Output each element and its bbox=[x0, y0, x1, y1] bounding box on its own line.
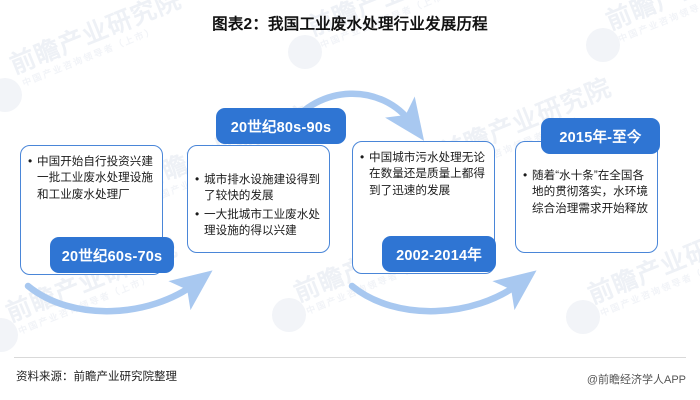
page-title: 图表2：我国工业废水处理行业发展历程 bbox=[0, 12, 700, 34]
stage-card-3-bullets: 中国城市污水处理无论在数量还是质量上都得到了迅速的发展 bbox=[360, 150, 487, 199]
stage-card-4-body: 随着“水十条”在全国各地的贯彻落实，水环境综合治理需求开始释放 bbox=[516, 142, 657, 225]
list-item: 随着“水十条”在全国各地的贯彻落实，水环境综合治理需求开始释放 bbox=[523, 168, 650, 217]
source-note: 资料来源：前瞻产业研究院整理 bbox=[16, 368, 177, 384]
stage-card-2-body: 城市排水设施建设得到了较快的发展 一大批城市工业废水处理设施的得以兴建 bbox=[188, 146, 329, 248]
stage-card-3-body: 中国城市污水处理无论在数量还是质量上都得到了迅速的发展 bbox=[353, 142, 494, 207]
stage-card-2[interactable]: 城市排水设施建设得到了较快的发展 一大批城市工业废水处理设施的得以兴建 bbox=[187, 145, 330, 253]
era-label-stage-1[interactable]: 20世纪60s-70s bbox=[50, 237, 174, 273]
arrow-stage1-to-stage2 bbox=[28, 283, 196, 311]
era-label-stage-4[interactable]: 2015年-至今 bbox=[541, 118, 660, 154]
list-item: 中国城市污水处理无论在数量还是质量上都得到了迅速的发展 bbox=[360, 150, 487, 199]
arrow-stage3-to-stage4 bbox=[352, 283, 520, 311]
app-credit: @前瞻经济学人APP bbox=[587, 371, 686, 387]
era-label-stage-2[interactable]: 20世纪80s-90s bbox=[216, 108, 346, 144]
list-item: 中国开始自行投资兴建一批工业废水处理设施和工业废水处理厂 bbox=[28, 154, 155, 203]
footer-divider bbox=[14, 357, 686, 358]
stage-card-2-bullets: 城市排水设施建设得到了较快的发展 一大批城市工业废水处理设施的得以兴建 bbox=[195, 172, 322, 240]
stage-card-4-bullets: 随着“水十条”在全国各地的贯彻落实，水环境综合治理需求开始释放 bbox=[523, 168, 650, 217]
list-item: 一大批城市工业废水处理设施的得以兴建 bbox=[195, 207, 322, 240]
stage-card-1-bullets: 中国开始自行投资兴建一批工业废水处理设施和工业废水处理厂 bbox=[28, 154, 155, 203]
era-label-stage-3[interactable]: 2002-2014年 bbox=[382, 236, 496, 272]
infographic-canvas: 前瞻产业研究院 中国产业咨询领导者（上市） 前瞻产业研究院 中国产业咨询领导者（… bbox=[0, 0, 700, 400]
stage-card-1-body: 中国开始自行投资兴建一批工业废水处理设施和工业废水处理厂 bbox=[21, 146, 162, 211]
list-item: 城市排水设施建设得到了较快的发展 bbox=[195, 172, 322, 205]
stage-card-4[interactable]: 随着“水十条”在全国各地的贯彻落实，水环境综合治理需求开始释放 bbox=[515, 141, 658, 253]
